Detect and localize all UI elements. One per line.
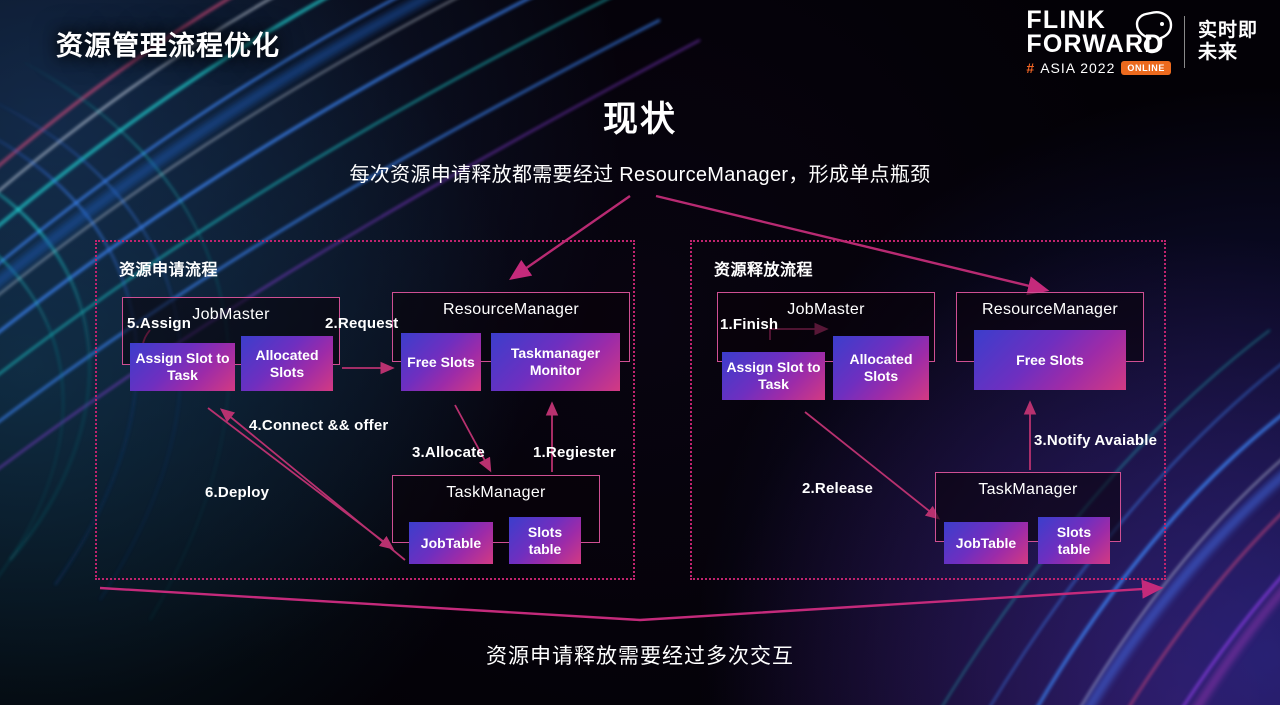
step-label-2-request: 2.Request	[325, 315, 399, 332]
online-badge: ONLINE	[1121, 61, 1171, 75]
subtitle-text: 每次资源申请释放都需要经过 ResourceManager，形成单点瓶颈	[0, 158, 1280, 187]
squirrel-icon	[1121, 10, 1175, 54]
hash-icon: #	[1026, 60, 1034, 76]
step-label-2-release: 2.Release	[802, 480, 873, 497]
chip-assign-slot-to-task-apply: Assign Slot to Task	[130, 343, 235, 391]
step-label-5-assign: 5.Assign	[127, 315, 191, 332]
chip-slots-table-apply: Slots table	[509, 517, 581, 564]
chip-jobtable-release: JobTable	[944, 522, 1028, 564]
step-label-1-finish: 1.Finish	[720, 316, 778, 333]
logo-event-name: ASIA 2022	[1040, 60, 1115, 76]
main-heading: 现状	[0, 91, 1280, 142]
logo-cn-line1: 实时即	[1198, 20, 1258, 41]
chip-allocated-slots-release: Allocated Slots	[833, 336, 929, 400]
chip-slots-table-release: Slots table	[1038, 517, 1110, 564]
panel-resource-apply: 资源申请流程 JobMaster Assign Slot to Task All…	[95, 240, 635, 580]
step-label-6-deploy: 6.Deploy	[205, 484, 269, 501]
chip-taskmanager-monitor-apply: Taskmanager Monitor	[491, 333, 620, 391]
step-label-3-allocate: 3.Allocate	[412, 444, 485, 461]
logo-cn-line2: 未来	[1198, 42, 1258, 63]
group-label-taskmanager-apply: TaskManager	[393, 484, 599, 502]
slide-root: 资源管理流程优化 FLINK FORWARD # ASIA 2022 ONLIN…	[0, 0, 1280, 705]
bottom-caption: 资源申请释放需要经过多次交互	[0, 640, 1280, 670]
group-label-resourcemanager-apply: ResourceManager	[393, 301, 629, 319]
logo-divider	[1184, 16, 1185, 68]
step-label-1-regiester: 1.Regiester	[533, 444, 616, 461]
flink-forward-logo: FLINK FORWARD # ASIA 2022 ONLINE	[1026, 8, 1171, 76]
brand-logo: FLINK FORWARD # ASIA 2022 ONLINE 实时即 未来	[1026, 8, 1258, 76]
chip-assign-slot-to-task-release: Assign Slot to Task	[722, 352, 825, 400]
chip-jobtable-apply: JobTable	[409, 522, 493, 564]
logo-subline: # ASIA 2022 ONLINE	[1026, 60, 1171, 76]
chip-allocated-slots-apply: Allocated Slots	[241, 336, 333, 391]
arrow-bottom-v-connector	[100, 588, 1160, 620]
logo-chinese-tagline: 实时即 未来	[1198, 20, 1258, 63]
group-label-taskmanager-release: TaskManager	[936, 481, 1120, 499]
group-label-resourcemanager-release: ResourceManager	[957, 301, 1143, 319]
step-label-3-notify-available: 3.Notify Avaiable	[1034, 432, 1157, 449]
chip-free-slots-release: Free Slots	[974, 330, 1126, 390]
panel-title-release: 资源释放流程	[714, 256, 813, 280]
panel-resource-release: 资源释放流程 JobMaster Assign Slot to Task All…	[690, 240, 1166, 580]
step-label-4-connect-offer: 4.Connect && offer	[249, 417, 388, 434]
page-title: 资源管理流程优化	[56, 24, 280, 63]
chip-free-slots-apply: Free Slots	[401, 333, 481, 391]
panel-title-apply: 资源申请流程	[119, 256, 218, 280]
